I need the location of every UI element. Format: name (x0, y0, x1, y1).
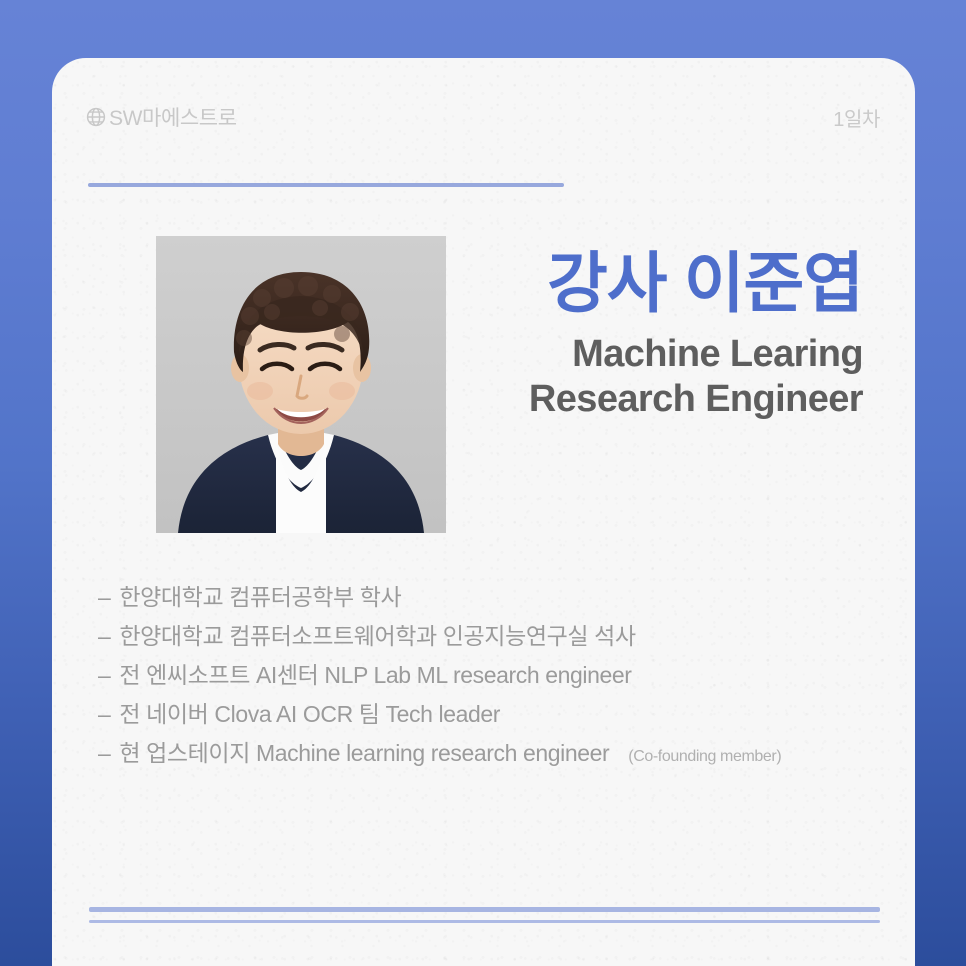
list-item-text: 전 네이버 Clova AI OCR 팀 Tech leader (119, 703, 500, 726)
brand-label: SW마에스트로 (109, 102, 237, 132)
list-item: – 전 네이버 Clova AI OCR 팀 Tech leader (98, 703, 895, 726)
slide-card: SW마에스트로 1일차 (52, 58, 915, 966)
bullet-dash-icon: – (98, 625, 110, 648)
list-item: – 현 업스테이지 Machine learning research engi… (98, 742, 895, 765)
globe-icon (85, 106, 107, 128)
role-line-1: Machine Learing (472, 333, 863, 376)
list-item: – 한양대학교 컴퓨터소프트웨어학과 인공지능연구실 석사 (98, 625, 895, 648)
list-item: – 한양대학교 컴퓨터공학부 학사 (98, 586, 895, 609)
slide-header: SW마에스트로 1일차 (85, 100, 880, 134)
day-label: 1일차 (833, 103, 880, 132)
bullet-dash-icon: – (98, 664, 110, 687)
list-item-text: 한양대학교 컴퓨터소프트웨어학과 인공지능연구실 석사 (119, 625, 635, 648)
list-item: – 전 엔씨소프트 AI센터 NLP Lab ML research engin… (98, 664, 895, 687)
bullet-dash-icon: – (98, 586, 110, 609)
brand: SW마에스트로 (85, 102, 237, 132)
list-item-text: 한양대학교 컴퓨터공학부 학사 (119, 586, 401, 609)
bottom-divider-thick (89, 907, 880, 912)
presentation-slide: SW마에스트로 1일차 (0, 0, 966, 966)
hero-section: 강사 이준엽 Machine Learing Research Engineer (52, 236, 915, 536)
bullet-dash-icon: – (98, 742, 110, 765)
bullet-dash-icon: – (98, 703, 110, 726)
page-title: 강사 이준엽 (472, 248, 863, 319)
credentials-list: – 한양대학교 컴퓨터공학부 학사 – 한양대학교 컴퓨터소프트웨어학과 인공지… (98, 586, 895, 781)
bottom-divider-thin (89, 920, 880, 923)
list-item-text: 현 업스테이지 Machine learning research engine… (119, 742, 609, 765)
list-item-note: (Co-founding member) (628, 749, 781, 765)
top-divider (88, 183, 564, 187)
list-item-text: 전 엔씨소프트 AI센터 NLP Lab ML research enginee… (119, 664, 631, 687)
role-line-2: Research Engineer (472, 378, 863, 421)
instructor-photo (156, 236, 446, 533)
hero-text: 강사 이준엽 Machine Learing Research Engineer (472, 248, 863, 420)
